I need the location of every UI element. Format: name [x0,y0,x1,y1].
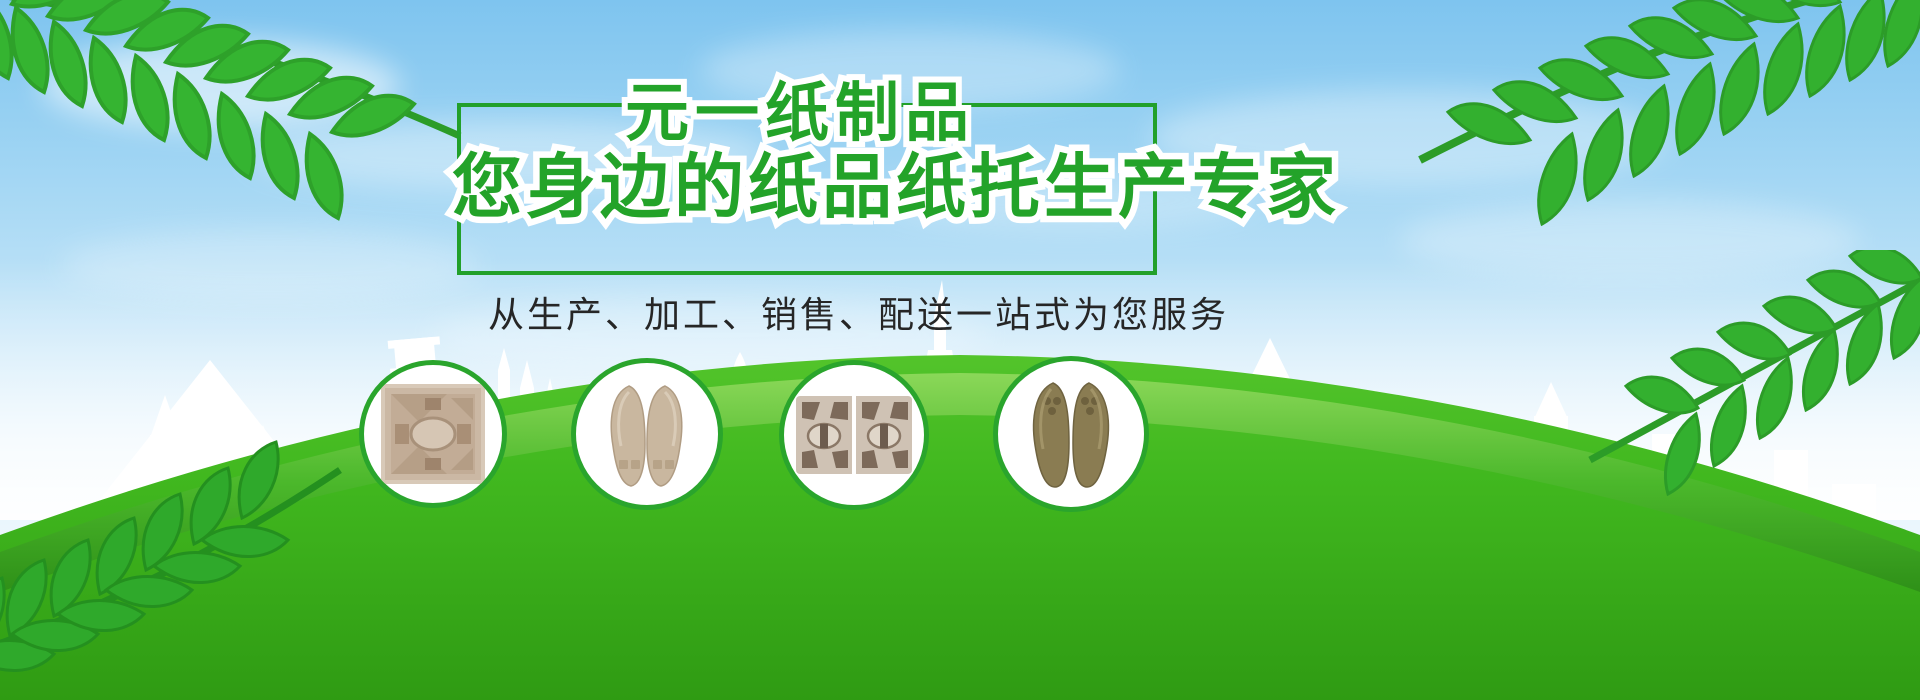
product-circle-2[interactable] [571,358,723,510]
palm-frond-top-left-icon [0,0,500,250]
paper-pulp-tray-square-icon [381,384,485,484]
palm-frond-right-icon [1470,250,1920,580]
paper-pulp-shoe-form-pair-icon [1021,375,1121,493]
palm-frond-top-right-icon [1340,0,1920,280]
paper-pulp-tray-double-icon [796,396,912,474]
paper-pulp-insole-pair-icon [599,376,695,492]
palm-frond-bottom-left-icon [0,410,360,690]
product-circle-3[interactable] [779,360,929,510]
page-title-line1: 元一纸制品 [625,82,975,146]
page-subtitle: 从生产、加工、销售、配送一站式为您服务 [488,286,1229,338]
promo-banner: 元一纸制品 您身边的纸品纸托生产专家 从生产、加工、销售、配送一站式为您服务 [0,0,1920,700]
product-circle-4[interactable] [993,356,1149,512]
product-circle-1[interactable] [359,360,507,508]
page-title-line2: 您身边的纸品纸托生产专家 [452,152,1340,222]
